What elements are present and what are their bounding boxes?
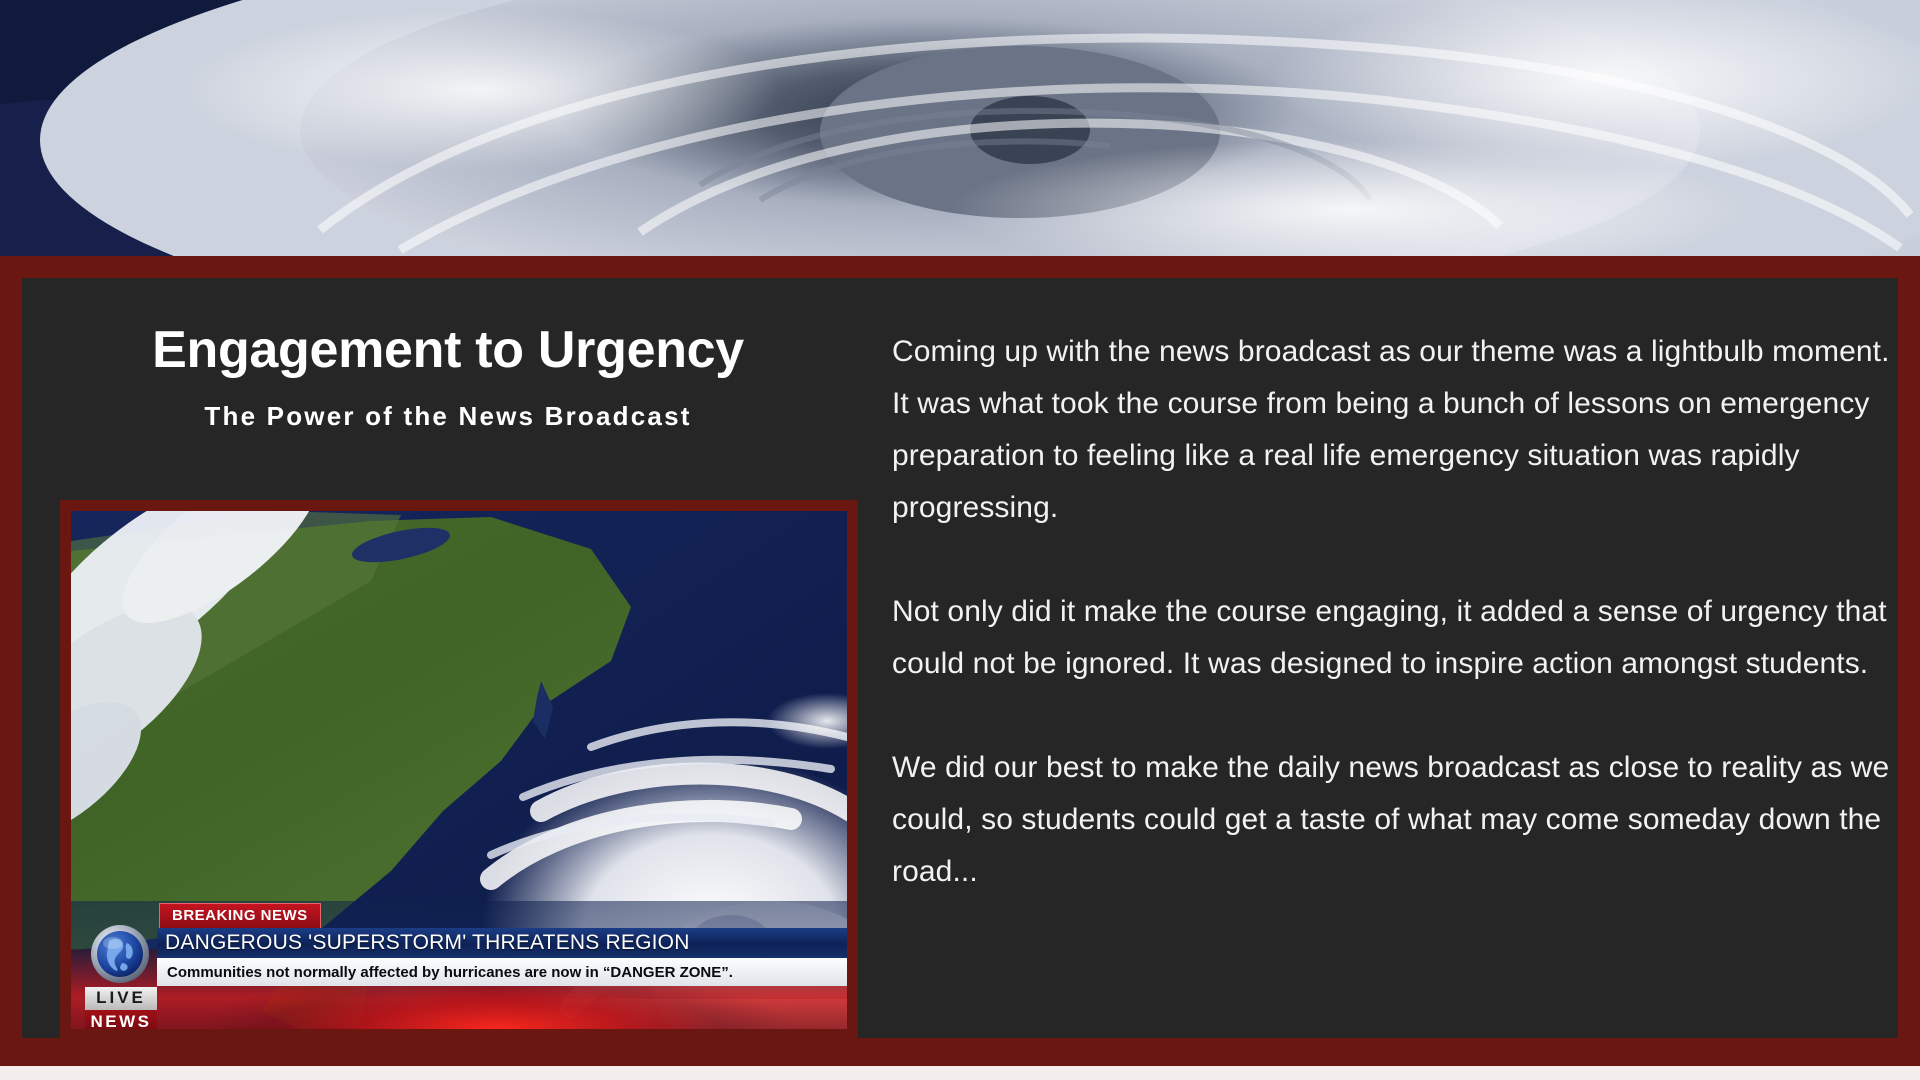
hero-hurricane-image xyxy=(0,0,1920,256)
breaking-news-badge: BREAKING NEWS xyxy=(159,903,321,929)
broadcast-subheadline-bar: Communities not normally affected by hur… xyxy=(157,958,847,986)
broadcast-subheadline-text: Communities not normally affected by hur… xyxy=(157,964,733,981)
broadcast-photo-frame: BREAKING NEWS DANGEROUS 'SUPERSTORM' THR… xyxy=(60,500,858,1040)
live-label: LIVE xyxy=(85,987,157,1010)
hurricane-eye-illustration xyxy=(0,0,1920,256)
content-panel: Engagement to Urgency The Power of the N… xyxy=(22,278,1898,1038)
slide-root: Engagement to Urgency The Power of the N… xyxy=(0,0,1920,1080)
broadcast-photo: BREAKING NEWS DANGEROUS 'SUPERSTORM' THR… xyxy=(71,511,847,1029)
globe-icon xyxy=(89,923,151,985)
broadcast-headline-text: DANGEROUS 'SUPERSTORM' THREATENS REGION xyxy=(157,931,690,955)
broadcast-lower-third: BREAKING NEWS DANGEROUS 'SUPERSTORM' THR… xyxy=(71,901,847,1029)
page-subtitle: The Power of the News Broadcast xyxy=(118,401,778,432)
broadcast-headline-bar: DANGEROUS 'SUPERSTORM' THREATENS REGION xyxy=(157,928,847,958)
news-label: NEWS xyxy=(85,1010,157,1029)
body-paragraph-3: We did our best to make the daily news b… xyxy=(892,742,1892,898)
body-text-column: Coming up with the news broadcast as our… xyxy=(892,326,1892,898)
live-news-badge: LIVE NEWS xyxy=(85,987,157,1029)
slide-red-frame: Engagement to Urgency The Power of the N… xyxy=(0,256,1920,1080)
body-paragraph-2: Not only did it make the course engaging… xyxy=(892,586,1892,690)
left-column: Engagement to Urgency The Power of the N… xyxy=(118,322,878,432)
page-title: Engagement to Urgency xyxy=(118,322,778,379)
body-paragraph-1: Coming up with the news broadcast as our… xyxy=(892,326,1892,534)
slide-bottom-strip xyxy=(0,1066,1920,1080)
